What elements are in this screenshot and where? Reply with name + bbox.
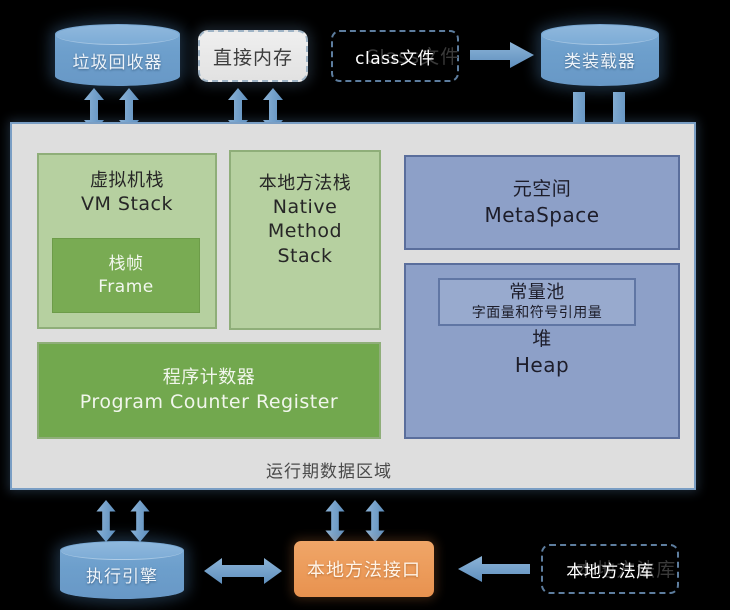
frame-box[interactable]: 栈帧 Frame (52, 238, 200, 313)
native-method-stack-box[interactable]: 本地方法栈 Native Method Stack (229, 150, 381, 330)
constant-pool-title: 常量池 (509, 282, 565, 305)
native-method-library-text-stack: 本地方法库 本地方法库 (566, 557, 654, 582)
arrow-runtime-to-execution-engine-left (96, 500, 116, 542)
arrow-class-file-to-class-loader (470, 42, 534, 68)
metaspace-label-cn: 元空间 (513, 177, 572, 202)
constant-pool-subtitle: 字面量和符号引用量 (472, 305, 603, 323)
metaspace-box[interactable]: 元空间 MetaSpace (404, 155, 680, 250)
arrow-runtime-to-native-interface-right (365, 500, 385, 542)
constant-pool-box[interactable]: 常量池 字面量和符号引用量 (438, 278, 636, 326)
arrow-runtime-to-native-interface-left (325, 500, 345, 542)
class-file-label: class文件 (355, 49, 435, 69)
program-counter-register-box[interactable]: 程序计数器 Program Counter Register (37, 342, 381, 439)
arrow-native-library-to-native-interface (458, 556, 530, 582)
heap-label-cn: 堆 (532, 327, 552, 352)
jvm-architecture-diagram: 垃圾回收器 直接内存 Class文件 class文件 类装载器 (0, 0, 730, 610)
native-method-interface-label: 本地方法接口 (307, 556, 421, 582)
native-method-library-node[interactable]: 本地方法库 本地方法库 (541, 544, 679, 594)
garbage-collector-node[interactable]: 垃圾回收器 (55, 24, 180, 86)
frame-label-cn: 栈帧 (109, 253, 144, 275)
heap-label-en: Heap (515, 352, 569, 378)
vm-stack-label-cn: 虚拟机栈 (90, 169, 164, 192)
vm-stack-label-en: VM Stack (81, 192, 173, 216)
arrow-execution-engine-to-native-interface (204, 558, 282, 584)
class-file-node[interactable]: Class文件 class文件 (331, 30, 459, 82)
execution-engine-label: 执行引擎 (86, 562, 158, 587)
class-loader-label: 类装载器 (564, 47, 636, 72)
frame-label-en: Frame (98, 276, 153, 298)
native-method-stack-label-en-3: Stack (277, 244, 332, 268)
class-file-text-stack: Class文件 class文件 (355, 44, 435, 69)
direct-memory-label: 直接内存 (213, 43, 293, 70)
native-method-library-label: 本地方法库 (566, 562, 654, 582)
execution-engine-node[interactable]: 执行引擎 (60, 541, 184, 599)
native-method-interface-node[interactable]: 本地方法接口 (294, 541, 434, 597)
native-method-stack-label-cn: 本地方法栈 (259, 172, 352, 195)
program-counter-label-en: Program Counter Register (80, 390, 338, 416)
native-method-stack-label-en-1: Native (273, 195, 338, 219)
metaspace-label-en: MetaSpace (484, 202, 599, 228)
native-method-stack-label-en-2: Method (268, 219, 342, 243)
garbage-collector-label: 垃圾回收器 (73, 48, 163, 73)
direct-memory-node[interactable]: 直接内存 (198, 30, 308, 82)
runtime-data-area-label: 运行期数据区域 (266, 457, 392, 482)
arrow-runtime-to-execution-engine-right (130, 500, 150, 542)
class-loader-node[interactable]: 类装载器 (541, 24, 659, 86)
program-counter-label-cn: 程序计数器 (163, 366, 256, 390)
